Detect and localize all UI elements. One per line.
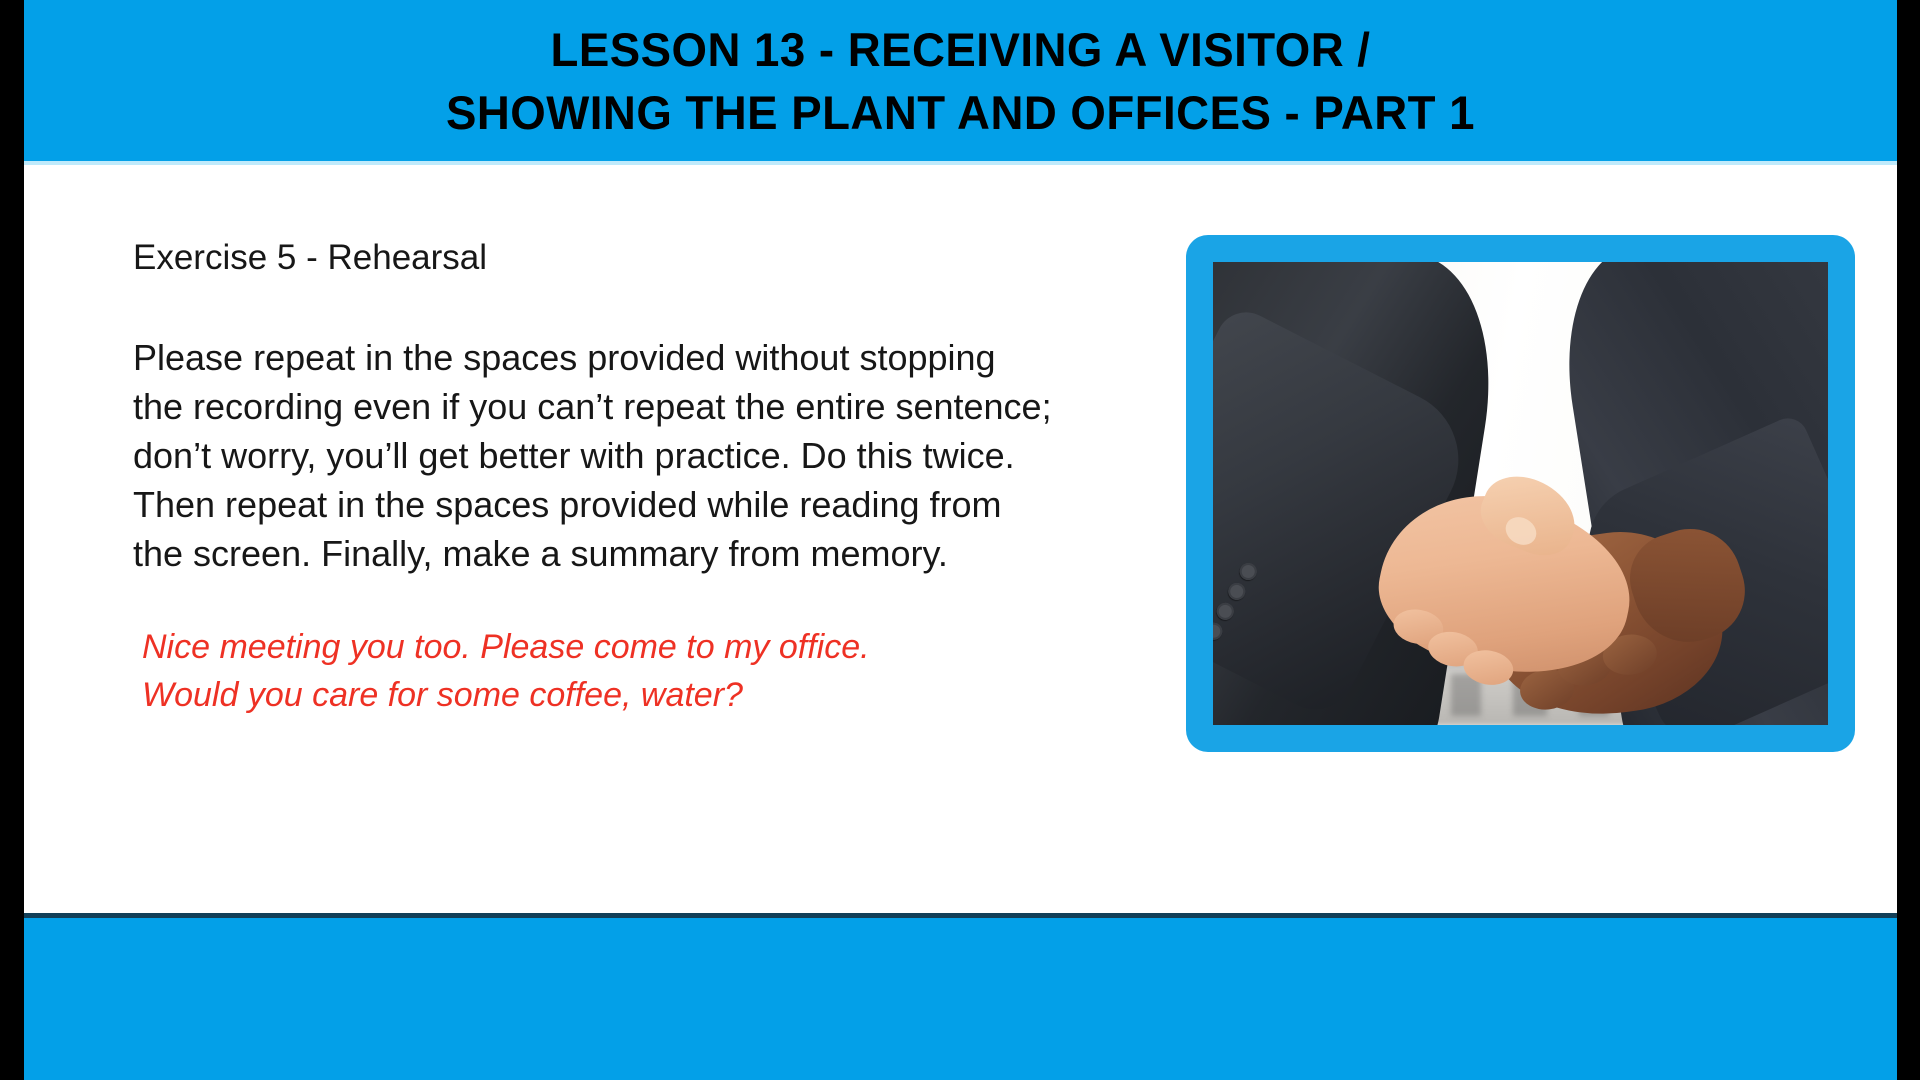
slide-title: LESSON 13 - RECEIVING A VISITOR / SHOWIN… [24,18,1897,144]
slide-title-line-1: LESSON 13 - RECEIVING A VISITOR / [52,18,1869,81]
instruction-line: the screen. Finally, make a summary from… [133,529,1193,578]
picture-frame [1186,235,1855,752]
slide-canvas: LESSON 13 - RECEIVING A VISITOR / SHOWIN… [0,0,1920,1080]
text-column: Exercise 5 - Rehearsal Please repeat in … [133,235,1193,719]
instruction-paragraph: Please repeat in the spaces provided wit… [133,333,1193,578]
rehearsal-phrase-block: Nice meeting you too. Please come to my … [142,623,1193,719]
handshake-photo [1213,262,1828,725]
instruction-line: the recording even if you can’t repeat t… [133,382,1193,431]
rehearsal-line: Nice meeting you too. Please come to my … [142,623,1193,671]
instruction-line: don’t worry, you’ll get better with prac… [133,431,1193,480]
slide-title-line-2: SHOWING THE PLANT AND OFFICES - PART 1 [52,81,1869,144]
slide-footer-bar [24,918,1897,1080]
instruction-line: Then repeat in the spaces provided while… [133,480,1193,529]
rehearsal-line: Would you care for some coffee, water? [142,671,1193,719]
instruction-line: Please repeat in the spaces provided wit… [133,333,1193,382]
slide-body: Exercise 5 - Rehearsal Please repeat in … [24,165,1897,913]
slide-header: LESSON 13 - RECEIVING A VISITOR / SHOWIN… [24,0,1897,161]
exercise-heading: Exercise 5 - Rehearsal [133,235,1193,281]
